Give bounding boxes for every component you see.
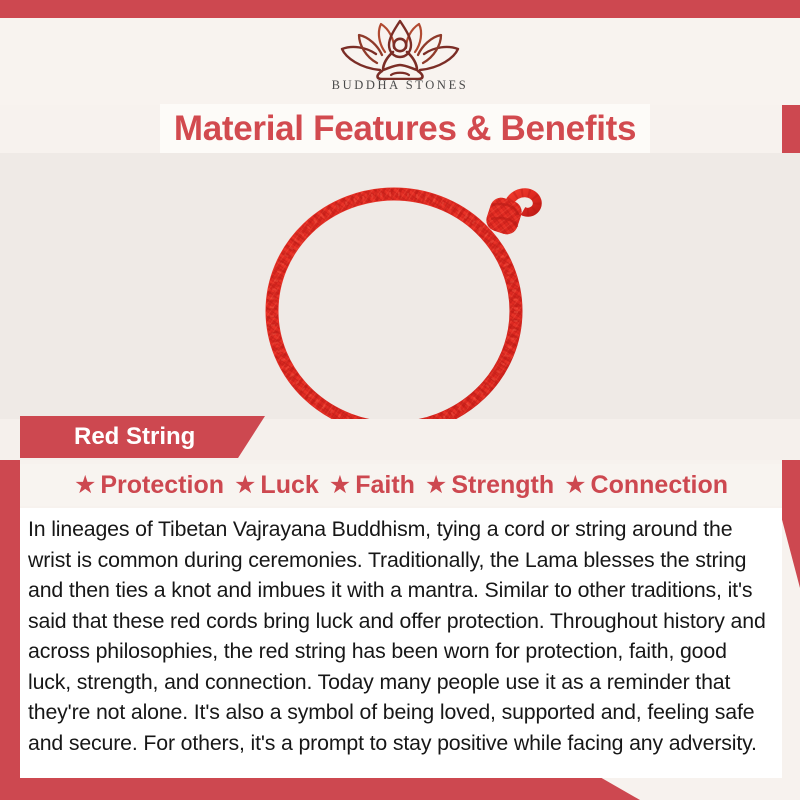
brand-header: BUDDHA STONES <box>0 18 800 105</box>
benefit-faith: ★ Faith <box>324 471 420 500</box>
benefit-luck: ★ Luck <box>229 471 324 500</box>
lotus-meditation-icon <box>336 18 464 80</box>
benefit-strength: ★ Strength <box>420 471 559 500</box>
title-band: Material Features & Benefits <box>160 104 650 153</box>
material-label: Red String <box>20 423 195 451</box>
star-icon: ★ <box>329 473 351 498</box>
frame-top-bar <box>0 0 800 18</box>
benefit-label: Protection <box>100 471 224 500</box>
frame-bottom-bar <box>0 778 640 800</box>
product-image <box>0 153 800 419</box>
benefit-connection: ★ Connection <box>559 471 733 500</box>
description-text: In lineages of Tibetan Vajrayana Buddhis… <box>28 514 768 758</box>
benefit-label: Connection <box>591 471 729 500</box>
star-icon: ★ <box>425 473 447 498</box>
benefit-label: Faith <box>355 471 415 500</box>
star-icon: ★ <box>74 473 96 498</box>
page-title: Material Features & Benefits <box>174 109 636 149</box>
star-icon: ★ <box>234 473 256 498</box>
star-icon: ★ <box>564 473 586 498</box>
brand-wordmark: BUDDHA STONES <box>332 78 469 93</box>
description-block: In lineages of Tibetan Vajrayana Buddhis… <box>20 508 782 778</box>
infographic-card: BUDDHA STONES Material Features & Benefi… <box>0 0 800 800</box>
benefit-protection: ★ Protection <box>69 471 229 500</box>
red-braided-string-bracelet-icon <box>242 175 562 419</box>
benefit-label: Luck <box>260 471 318 500</box>
benefit-label: Strength <box>451 471 554 500</box>
material-label-banner: Red String <box>20 416 265 458</box>
benefits-row: ★ Protection ★ Luck ★ Faith ★ Strength ★… <box>20 464 782 506</box>
